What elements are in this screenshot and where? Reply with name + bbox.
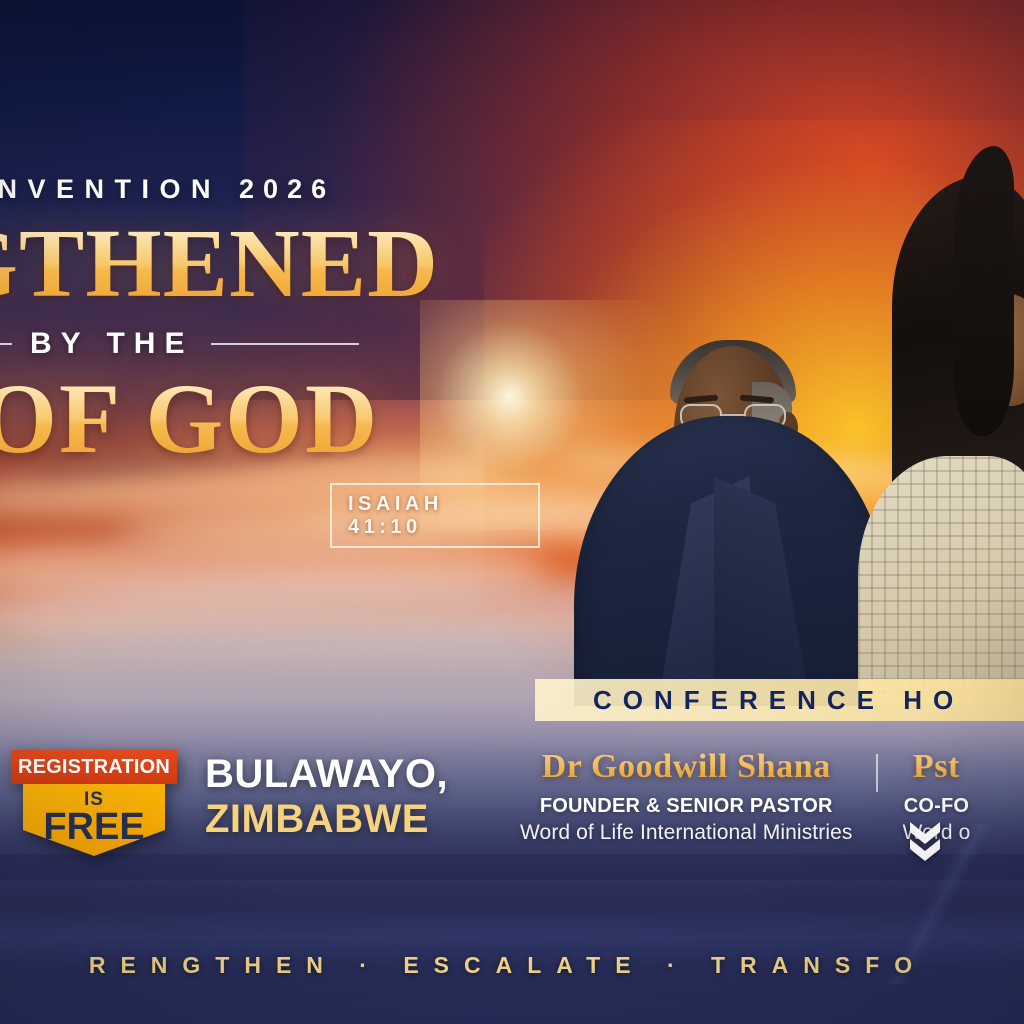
headline-mid-row: BY THE <box>0 327 540 361</box>
host-name: Dr Goodwill Shana <box>520 748 852 786</box>
conference-hosts-list: Dr Goodwill Shana FOUNDER & SENIOR PASTO… <box>520 748 1024 845</box>
kicker-text: ONVENTION <box>0 174 221 204</box>
registration-shield: IS FREE <box>23 784 165 856</box>
speaker-photo-secondary <box>858 186 1024 706</box>
location-country: ZIMBABWE <box>205 797 448 842</box>
speaker-photo-primary <box>566 186 896 706</box>
registration-label: REGISTRATION <box>11 750 177 784</box>
headline-by-the: BY THE <box>30 327 193 361</box>
location-city: BULAWAYO, <box>205 752 448 797</box>
kicker-line: ONVENTION 2026 <box>0 176 540 203</box>
host-entry: Dr Goodwill Shana FOUNDER & SENIOR PASTO… <box>520 748 852 845</box>
bottom-tagline: RENGTHEN · ESCALATE · TRANSFO <box>0 952 1024 979</box>
conference-poster: ONVENTION 2026 NGTHENED BY THE D OF GOD … <box>0 0 1024 1024</box>
host-divider <box>876 754 878 792</box>
second-speaker-hair-front <box>954 146 1014 436</box>
rule-left <box>0 343 12 345</box>
rule-right <box>211 343 359 345</box>
host-name: Pst <box>902 748 970 786</box>
host-role: FOUNDER & SENIOR PASTOR <box>520 795 852 818</box>
headline-line-word-of-god: D OF GOD <box>0 369 540 469</box>
kicker-year: 2026 <box>239 174 335 204</box>
headline-line-strengthened: NGTHENED <box>0 215 540 313</box>
double-chevron-down-icon <box>908 819 942 861</box>
registration-free-label: FREE <box>23 808 165 846</box>
registration-free-badge: REGISTRATION IS FREE <box>11 750 177 856</box>
scripture-reference-badge: ISAIAH 41:10 <box>330 483 540 548</box>
conference-hosts-banner: CONFERENCE HO <box>535 679 1024 721</box>
conference-hosts-banner-label: CONFERENCE HO <box>535 685 964 716</box>
host-organization: Word of Life International Ministries <box>520 821 852 845</box>
event-location: BULAWAYO, ZIMBABWE <box>205 752 448 842</box>
host-role: CO-FO <box>902 795 970 818</box>
second-speaker-checked-blazer <box>858 456 1024 706</box>
headline-block: ONVENTION 2026 NGTHENED BY THE D OF GOD … <box>0 176 540 548</box>
